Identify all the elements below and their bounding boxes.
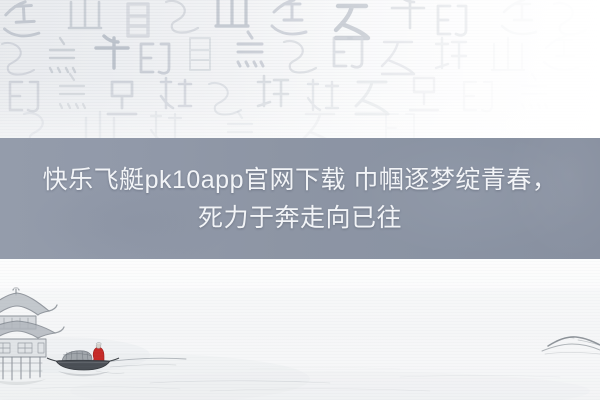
distant-shore <box>542 337 600 354</box>
horizon-haze <box>0 259 600 289</box>
ink-wash-lake-scene <box>0 259 600 400</box>
calligraphy-texture-panel <box>0 0 600 139</box>
headline-band: 快乐飞艇pk10app官网下载 巾帼逐梦绽青春， 死力于奔走向已往 <box>0 138 600 259</box>
landscape-artwork <box>0 259 600 400</box>
calligraphy-glyphs <box>0 0 600 139</box>
banner-image: 快乐飞艇pk10app官网下载 巾帼逐梦绽青春， 死力于奔走向已往 <box>0 0 600 400</box>
headline-text: 快乐飞艇pk10app官网下载 巾帼逐梦绽青春， 死力于奔走向已往 <box>20 161 580 237</box>
